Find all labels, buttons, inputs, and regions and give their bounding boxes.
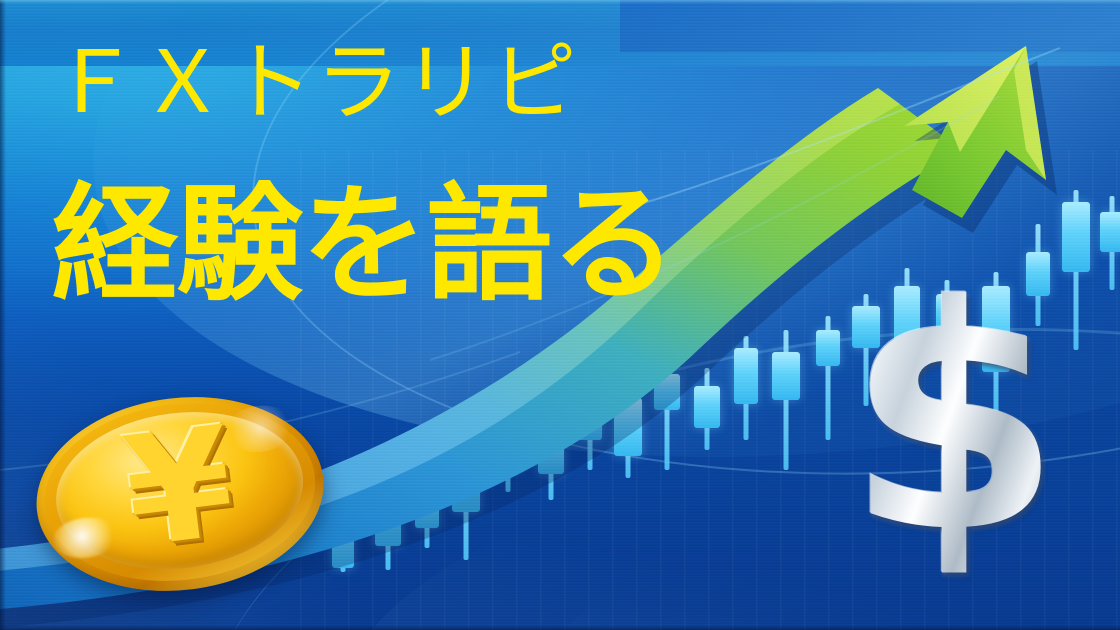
frame-edge-left <box>0 0 6 630</box>
fx-thumbnail-banner: ¥ $ ＦＸトラリピ 経験を語る <box>0 0 1120 630</box>
frame-edge-bottom <box>0 625 1120 630</box>
headline-line-1: ＦＸトラリピ <box>52 40 578 126</box>
frame-edge-top <box>0 0 1120 4</box>
dollar-symbol: $ <box>846 266 1062 576</box>
dollar-sign-icon: $ <box>860 352 1120 614</box>
headline-line-2: 経験を語る <box>52 182 676 308</box>
yen-coin-icon: ¥ <box>25 381 334 607</box>
